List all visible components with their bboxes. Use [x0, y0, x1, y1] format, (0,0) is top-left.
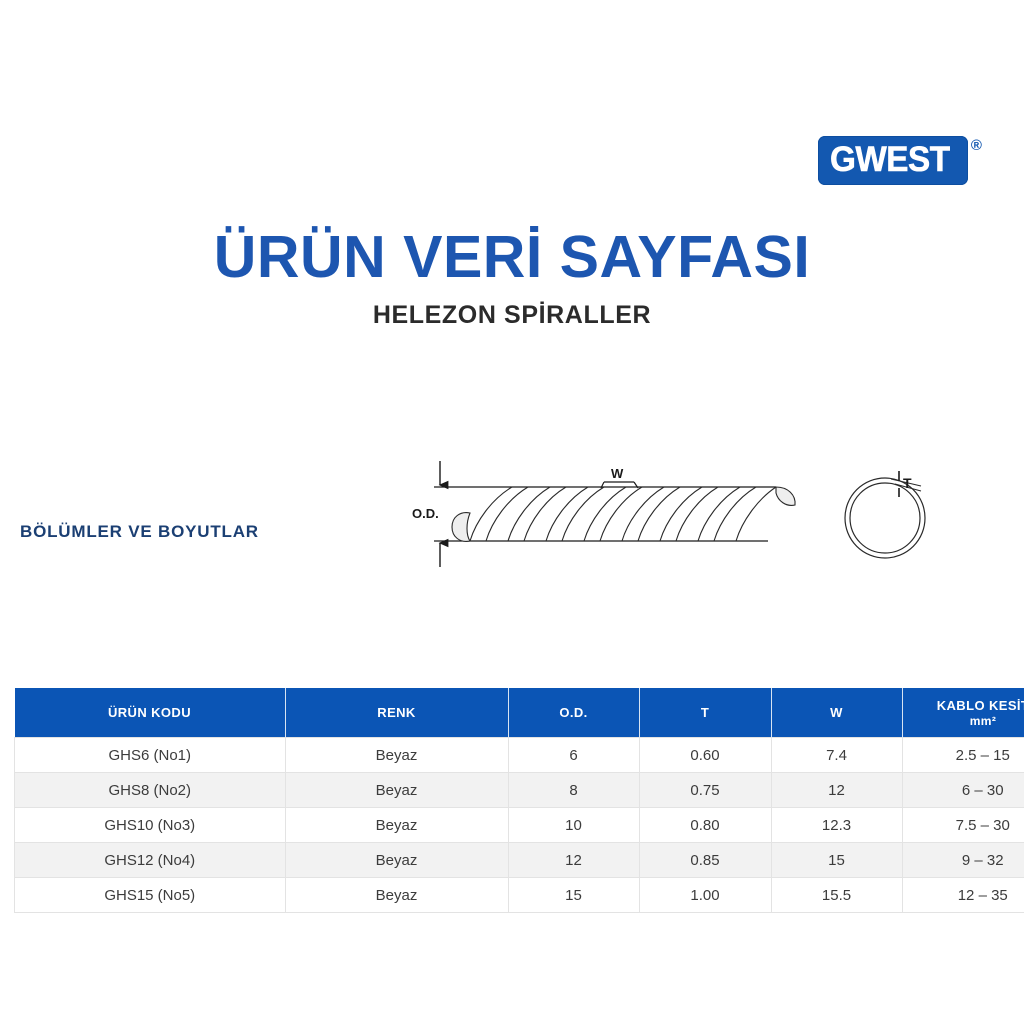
cell-product-code: GHS12 (No4): [15, 843, 286, 878]
brand-logo: GWEST ®: [818, 136, 982, 185]
column-header-cable-cross-section: KABLO KESİT mm²: [902, 688, 1024, 738]
cell-w: 15: [771, 843, 902, 878]
cell-cable-cross-section: 2.5 – 15: [902, 738, 1024, 773]
cell-od: 6: [508, 738, 639, 773]
cell-t: 0.60: [639, 738, 771, 773]
table-body: GHS6 (No1) Beyaz 6 0.60 7.4 2.5 – 15 GHS…: [15, 738, 1024, 913]
table-header-row: ÜRÜN KODU RENK O.D. T W KABLO KESİT mm²: [15, 688, 1024, 738]
od-label: O.D.: [412, 506, 439, 521]
cell-color: Beyaz: [285, 738, 508, 773]
cross-section-diagram: T: [835, 455, 995, 580]
cell-od: 8: [508, 773, 639, 808]
cell-od: 15: [508, 878, 639, 913]
cell-color: Beyaz: [285, 773, 508, 808]
logo-wordmark: GWEST: [830, 142, 950, 177]
cell-color: Beyaz: [285, 843, 508, 878]
registered-trademark-icon: ®: [971, 138, 982, 153]
column-header-od: O.D.: [508, 688, 639, 738]
cell-od: 10: [508, 808, 639, 843]
cell-od: 12: [508, 843, 639, 878]
t-label: T: [903, 475, 912, 491]
spiral-right-end: [776, 487, 795, 505]
cell-product-code: GHS10 (No3): [15, 808, 286, 843]
dimensions-section-label: BÖLÜMLER VE BOYUTLAR: [20, 522, 259, 542]
cell-t: 0.75: [639, 773, 771, 808]
column-header-color: RENK: [285, 688, 508, 738]
cell-product-code: GHS8 (No2): [15, 773, 286, 808]
table-row: GHS15 (No5) Beyaz 15 1.00 15.5 12 – 35: [15, 878, 1024, 913]
table-row: GHS8 (No2) Beyaz 8 0.75 12 6 – 30: [15, 773, 1024, 808]
column-header-unit: mm²: [907, 714, 1024, 728]
cell-cable-cross-section: 6 – 30: [902, 773, 1024, 808]
cell-cable-cross-section: 9 – 32: [902, 843, 1024, 878]
page-title: ÜRÜN VERİ SAYFASI: [0, 228, 1024, 287]
cell-cable-cross-section: 7.5 – 30: [902, 808, 1024, 843]
specifications-table: ÜRÜN KODU RENK O.D. T W KABLO KESİT mm² …: [14, 688, 1024, 913]
spiral-side-view-diagram: O.D. W: [408, 455, 808, 580]
table-row: GHS12 (No4) Beyaz 12 0.85 15 9 – 32: [15, 843, 1024, 878]
w-label: W: [611, 466, 624, 481]
cell-color: Beyaz: [285, 878, 508, 913]
cell-t: 0.85: [639, 843, 771, 878]
cell-t: 1.00: [639, 878, 771, 913]
column-header-w: W: [771, 688, 902, 738]
cell-w: 15.5: [771, 878, 902, 913]
cell-w: 12.3: [771, 808, 902, 843]
spiral-left-end: [452, 513, 470, 542]
cell-w: 7.4: [771, 738, 902, 773]
cell-product-code: GHS6 (No1): [15, 738, 286, 773]
page-header: ÜRÜN VERİ SAYFASI HELEZON SPİRALLER: [0, 228, 1024, 330]
column-header-product-code: ÜRÜN KODU: [15, 688, 286, 738]
table-row: GHS6 (No1) Beyaz 6 0.60 7.4 2.5 – 15: [15, 738, 1024, 773]
cell-t: 0.80: [639, 808, 771, 843]
cell-product-code: GHS15 (No5): [15, 878, 286, 913]
cell-cable-cross-section: 12 – 35: [902, 878, 1024, 913]
cell-color: Beyaz: [285, 808, 508, 843]
page-subtitle: HELEZON SPİRALLER: [0, 301, 1024, 330]
column-header-t: T: [639, 688, 771, 738]
table-row: GHS10 (No3) Beyaz 10 0.80 12.3 7.5 – 30: [15, 808, 1024, 843]
logo-box: GWEST: [818, 136, 968, 185]
cell-w: 12: [771, 773, 902, 808]
